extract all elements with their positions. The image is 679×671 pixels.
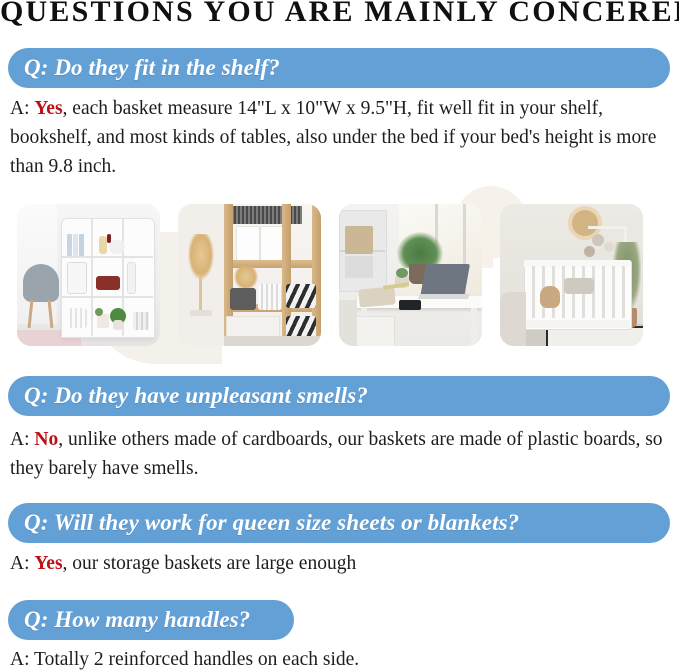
faq-infographic: QUESTIONS YOU ARE MAINLY CONCERED Q: Do … <box>0 0 679 671</box>
answer-3: A: Yes, our storage baskets are large en… <box>10 549 672 578</box>
answer-prefix-4: A: <box>10 649 34 670</box>
answer-4: A: Totally 2 reinforced handles on each … <box>10 645 672 671</box>
answer-highlight-1: Yes <box>34 98 62 119</box>
answer-prefix-3: A: <box>10 553 34 574</box>
answer-1: A: Yes, each basket measure 14"L x 10"W … <box>10 94 672 181</box>
question-banner-4: Q: How many handles? <box>8 600 294 640</box>
question-banner-1: Q: Do they fit in the shelf? <box>8 48 670 88</box>
answer-2: A: No, unlike others made of cardboards,… <box>10 425 672 483</box>
answer-body-2: , unlike others made of cardboards, our … <box>10 429 663 479</box>
answer-prefix-1: A: <box>10 98 34 119</box>
photo-gallery <box>17 204 662 346</box>
page-title: QUESTIONS YOU ARE MAINLY CONCERED <box>0 0 679 30</box>
question-text-2: Q: Do they have unpleasant smells? <box>8 383 368 409</box>
answer-body-4: Totally 2 reinforced handles on each sid… <box>34 649 359 670</box>
gallery-photo-2 <box>178 204 321 346</box>
question-banner-3: Q: Will they work for queen size sheets … <box>8 503 670 543</box>
question-text-1: Q: Do they fit in the shelf? <box>8 55 280 81</box>
gallery-photo-1 <box>17 204 160 346</box>
answer-body-3: , our storage baskets are large enough <box>63 553 357 574</box>
question-text-3: Q: Will they work for queen size sheets … <box>8 510 519 536</box>
gallery-photo-3 <box>339 204 482 346</box>
question-banner-2: Q: Do they have unpleasant smells? <box>8 376 670 416</box>
question-text-4: Q: How many handles? <box>8 607 250 633</box>
answer-body-1: , each basket measure 14"L x 10"W x 9.5"… <box>10 98 656 177</box>
answer-highlight-2: No <box>34 429 58 450</box>
gallery-photo-4 <box>500 204 643 346</box>
answer-prefix-2: A: <box>10 429 34 450</box>
answer-highlight-3: Yes <box>34 553 62 574</box>
